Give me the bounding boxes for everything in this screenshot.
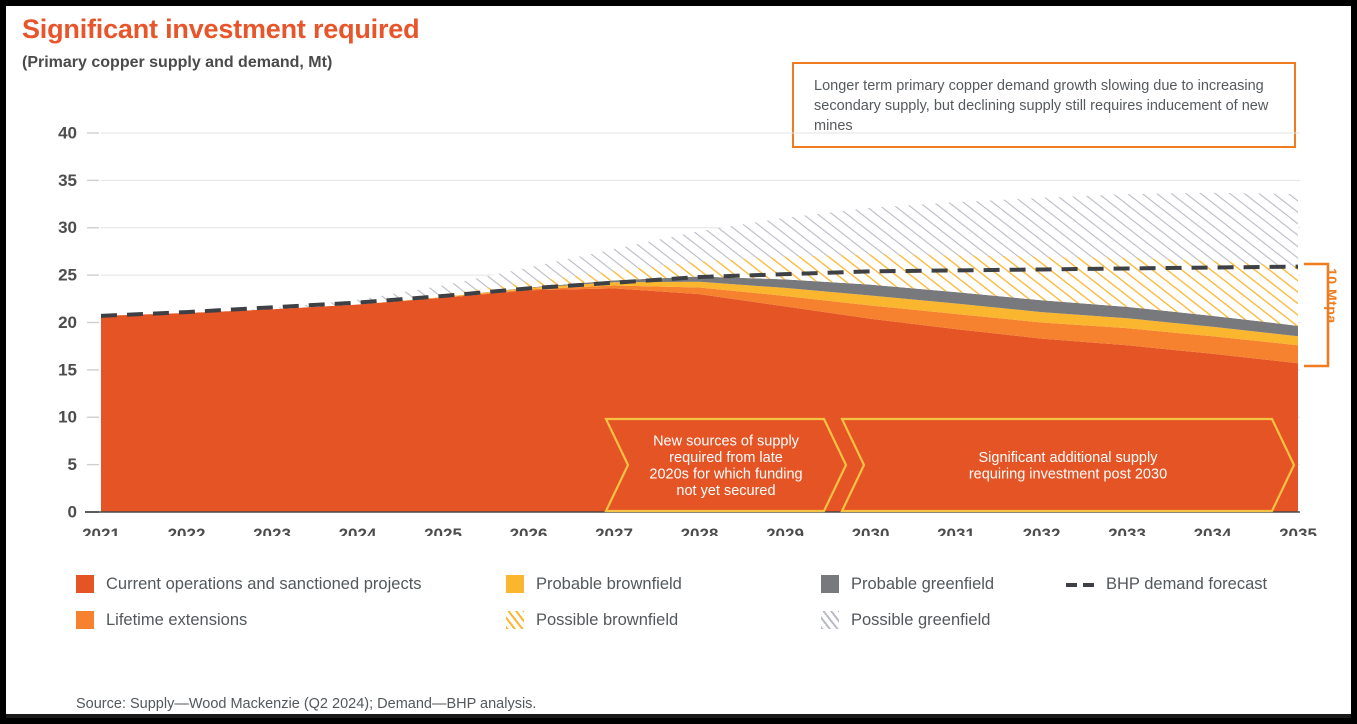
- page-subtitle: (Primary copper supply and demand, Mt): [22, 54, 332, 72]
- x-axis-tick-2032: 2032: [1023, 525, 1061, 536]
- legend-item-possible-greenfield[interactable]: Possible greenfield: [821, 606, 990, 634]
- legend-label: Lifetime extensions: [106, 611, 247, 630]
- y-axis-tick-40: 40: [58, 123, 77, 142]
- x-axis-tick-2034: 2034: [1194, 525, 1232, 536]
- legend-label: Possible brownfield: [536, 611, 678, 630]
- y-axis-tick-15: 15: [58, 360, 77, 379]
- y-axis-tick-35: 35: [58, 171, 77, 190]
- svg-text:requiring investment post 2030: requiring investment post 2030: [969, 466, 1167, 482]
- x-axis-tick-2026: 2026: [510, 525, 548, 536]
- svg-text:not yet secured: not yet secured: [676, 483, 775, 499]
- x-axis-tick-2029: 2029: [766, 525, 804, 536]
- x-axis-tick-2022: 2022: [168, 525, 206, 536]
- stacked-area-chart: 0510152025303540202120222023202420252026…: [6, 106, 1351, 536]
- legend-item-lifetime-extensions[interactable]: Lifetime extensions: [76, 606, 247, 634]
- x-axis-tick-2023: 2023: [253, 525, 291, 536]
- x-axis-tick-2031: 2031: [937, 525, 975, 536]
- legend-item-probable-brownfield[interactable]: Probable brownfield: [506, 570, 682, 598]
- y-axis-tick-10: 10: [58, 408, 77, 427]
- footer-rule: [6, 714, 1351, 718]
- y-axis-tick-0: 0: [68, 502, 77, 521]
- legend-swatch-dashed-line: [1066, 575, 1096, 593]
- legend-label: Probable brownfield: [536, 575, 682, 594]
- legend-swatch-hatch: [821, 611, 839, 629]
- legend-swatch-solid: [76, 575, 94, 593]
- svg-text:New sources of supply: New sources of supply: [653, 433, 800, 449]
- legend-swatch-solid: [76, 611, 94, 629]
- legend-label: BHP demand forecast: [1106, 575, 1267, 594]
- x-axis-tick-2025: 2025: [424, 525, 462, 536]
- x-axis-tick-2024: 2024: [339, 525, 377, 536]
- legend-label: Possible greenfield: [851, 611, 990, 630]
- x-axis-tick-2021: 2021: [82, 525, 120, 536]
- y-axis-tick-20: 20: [58, 313, 77, 332]
- svg-text:required from late: required from late: [669, 450, 783, 466]
- legend-item-possible-brownfield[interactable]: Possible brownfield: [506, 606, 678, 634]
- slide-canvas: Significant investment required (Primary…: [6, 6, 1351, 718]
- legend-item-probable-greenfield[interactable]: Probable greenfield: [821, 570, 994, 598]
- legend-label: Current operations and sanctioned projec…: [106, 575, 422, 594]
- legend-swatch-solid: [821, 575, 839, 593]
- svg-text:Significant additional supply: Significant additional supply: [979, 450, 1159, 466]
- legend-item-bhp-demand-forecast[interactable]: BHP demand forecast: [1066, 570, 1267, 598]
- mtpa-bracket-label: 10 Mtpa: [1324, 268, 1340, 324]
- svg-text:2020s for which funding: 2020s for which funding: [649, 466, 802, 482]
- y-axis-tick-25: 25: [58, 266, 77, 285]
- y-axis-tick-30: 30: [58, 218, 77, 237]
- chart-legend: Current operations and sanctioned projec…: [76, 570, 1336, 640]
- x-axis-tick-2033: 2033: [1108, 525, 1146, 536]
- legend-swatch-solid: [506, 575, 524, 593]
- x-axis-tick-2028: 2028: [681, 525, 719, 536]
- legend-swatch-hatch: [506, 611, 524, 629]
- x-axis-tick-2027: 2027: [595, 525, 633, 536]
- source-note: Source: Supply—Wood Mackenzie (Q2 2024);…: [76, 696, 536, 712]
- page-title: Significant investment required: [22, 14, 419, 45]
- x-axis-tick-2035: 2035: [1279, 525, 1317, 536]
- legend-item-current-operations-and-sanctioned-projects[interactable]: Current operations and sanctioned projec…: [76, 570, 422, 598]
- x-axis-tick-2030: 2030: [852, 525, 890, 536]
- chart-area: 0510152025303540202120222023202420252026…: [6, 106, 1351, 536]
- y-axis-tick-5: 5: [68, 455, 77, 474]
- legend-label: Probable greenfield: [851, 575, 994, 594]
